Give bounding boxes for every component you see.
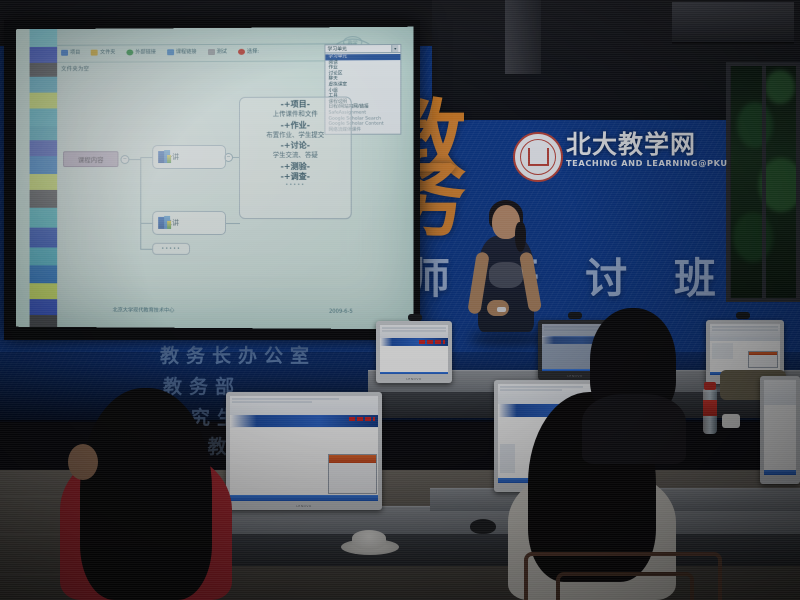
classroom-photo: 教务长办公室 教务部 研究生 代 教 教务 北大教学网 TEACHING AND… xyxy=(0,0,800,600)
photo-vignette xyxy=(0,0,800,600)
